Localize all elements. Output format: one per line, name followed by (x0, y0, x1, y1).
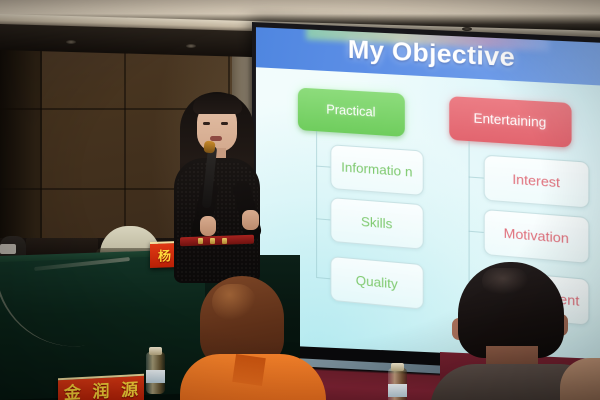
downlight-icon (66, 40, 76, 44)
speaker-eye (221, 122, 228, 125)
audience-hair-highlight (212, 284, 256, 320)
downlight-icon (186, 44, 196, 48)
microphone-head-icon (203, 140, 215, 153)
belt-stud (222, 238, 227, 244)
slide-sub-box-motivation: Motivation (484, 209, 590, 264)
bottle-cap (391, 363, 404, 371)
slide-head-box-entertaining: Entertaining (449, 96, 571, 148)
slide-head-box-practical: Practical (298, 88, 405, 137)
connector-line (316, 166, 330, 168)
connector-line (469, 176, 484, 178)
bottle-label (388, 384, 407, 397)
placard-char-2: 润 (92, 382, 109, 400)
audience-member-right (442, 262, 592, 400)
presentation-photo: My Objective Practical Informatio n Skil… (0, 0, 600, 400)
paper-sheet (0, 244, 16, 254)
audience-member-left (186, 276, 322, 400)
connector-line (469, 231, 484, 233)
slide-sub-box-interest: Interest (484, 155, 590, 209)
audience-hair-highlight (482, 268, 528, 294)
bottle-label (146, 370, 165, 383)
speaker-hand-right (242, 210, 259, 230)
speaker-bangs (193, 94, 242, 114)
speaker-eye (203, 122, 210, 125)
slide-sub-box-information: Informatio n (330, 144, 423, 196)
name-placard-front: 金 润 源 (58, 374, 144, 400)
jacket-collar (232, 354, 266, 386)
belt-stud (198, 238, 203, 244)
slide-sub-box-quality: Quality (330, 256, 423, 310)
slide-sub-box-skills: Skills (330, 197, 423, 250)
bottle-cap (149, 347, 162, 355)
belt-stud (210, 238, 215, 244)
placard-char-1: 金 (64, 384, 81, 400)
connector-line (316, 218, 330, 220)
speaker-hand-left (200, 216, 216, 236)
connector-line (316, 131, 317, 277)
wall-panel-seam (40, 40, 42, 240)
placard-char-3: 源 (121, 381, 138, 399)
